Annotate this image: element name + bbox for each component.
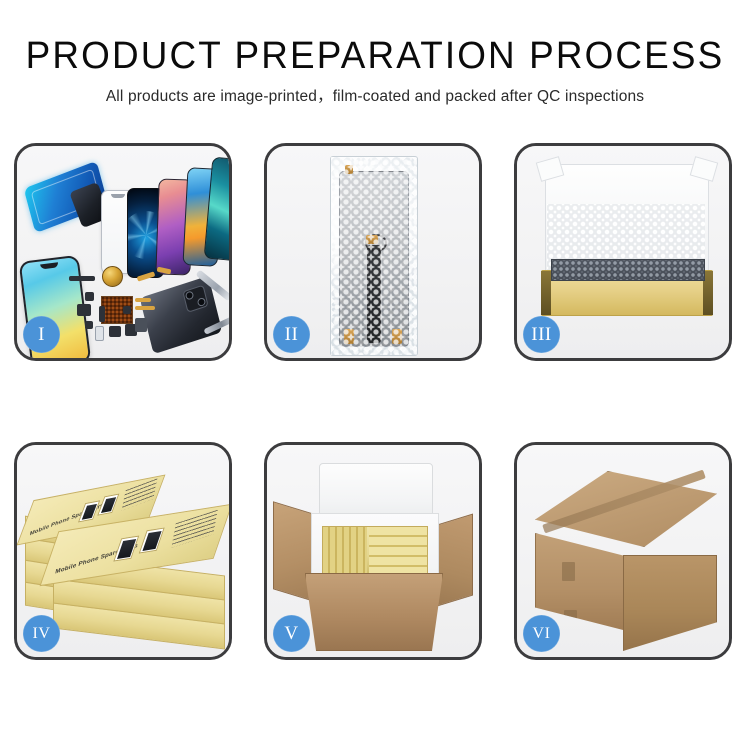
step-1-photo: I	[17, 146, 229, 358]
small-component-icon	[135, 318, 147, 332]
box-artwork-thumb	[139, 527, 165, 553]
step-5-photo: V	[267, 445, 479, 657]
page-title: PRODUCT PREPARATION PROCESS	[11, 34, 739, 78]
gold-connector-icon	[392, 329, 402, 344]
small-component-icon	[77, 304, 91, 316]
bubble-wrap-bag-icon	[330, 156, 418, 356]
step-badge-2: II	[273, 316, 310, 353]
small-component-icon	[99, 306, 105, 322]
gold-connector-icon	[344, 329, 354, 344]
step-2-photo: II	[267, 146, 479, 358]
step-3-photo: III	[517, 146, 729, 358]
step-6-photo: VI	[517, 445, 729, 657]
flex-cable-icon	[367, 245, 381, 342]
carton-tape-patch	[564, 610, 577, 629]
yellow-boxes-vertical	[323, 527, 367, 575]
small-component-icon	[69, 276, 95, 281]
box-artwork-thumb	[78, 500, 100, 522]
flex-cable-icon	[135, 306, 155, 310]
box-artwork-thumb	[97, 493, 119, 515]
step-badge-4: IV	[23, 615, 60, 652]
small-component-icon	[109, 326, 121, 337]
gold-tape-icon	[345, 165, 353, 174]
step-badge-1: I	[23, 316, 60, 353]
box-edge-left	[541, 271, 551, 315]
page-subtitle: All products are image-printed，film-coat…	[0, 87, 750, 107]
panel-step-2: II	[264, 143, 482, 361]
carton-right-face	[623, 555, 717, 651]
screen-assembly-icon	[339, 171, 409, 347]
step-4-photo: Mobile Phone Spare Parts Mobile Phone Sp…	[17, 445, 229, 657]
small-component-icon	[85, 321, 93, 329]
small-component-icon	[123, 306, 131, 314]
yellow-boxes-horizontal	[369, 527, 427, 575]
gold-connector-icon	[366, 235, 378, 244]
small-component-icon	[85, 292, 94, 301]
panel-step-1: I	[14, 143, 232, 361]
product-preparation-infographic: PRODUCT PREPARATION PROCESS All products…	[0, 0, 750, 750]
small-component-icon	[95, 326, 104, 341]
box-text-block	[121, 478, 157, 510]
panel-step-4: Mobile Phone Spare Parts Mobile Phone Sp…	[14, 442, 232, 660]
grey-foam-padding-icon	[551, 259, 705, 281]
process-step-grid: I II	[14, 143, 736, 678]
yellow-inner-box-icon	[541, 270, 713, 316]
foam-cavity	[322, 526, 428, 576]
header: PRODUCT PREPARATION PROCESS All products…	[0, 34, 750, 107]
box-text-block	[171, 510, 217, 548]
gold-coin-component-icon	[102, 266, 123, 287]
carton-tape-patch	[562, 562, 575, 581]
step-badge-5: V	[273, 615, 310, 652]
open-carton-icon	[305, 573, 443, 651]
step-badge-3: III	[523, 316, 560, 353]
panel-step-3: III	[514, 143, 732, 361]
panel-step-6: VI	[514, 442, 732, 660]
step-badge-6: VI	[523, 615, 560, 652]
camera-module-icon	[182, 285, 208, 313]
flex-cable-icon	[135, 298, 151, 302]
panel-step-5: V	[264, 442, 482, 660]
